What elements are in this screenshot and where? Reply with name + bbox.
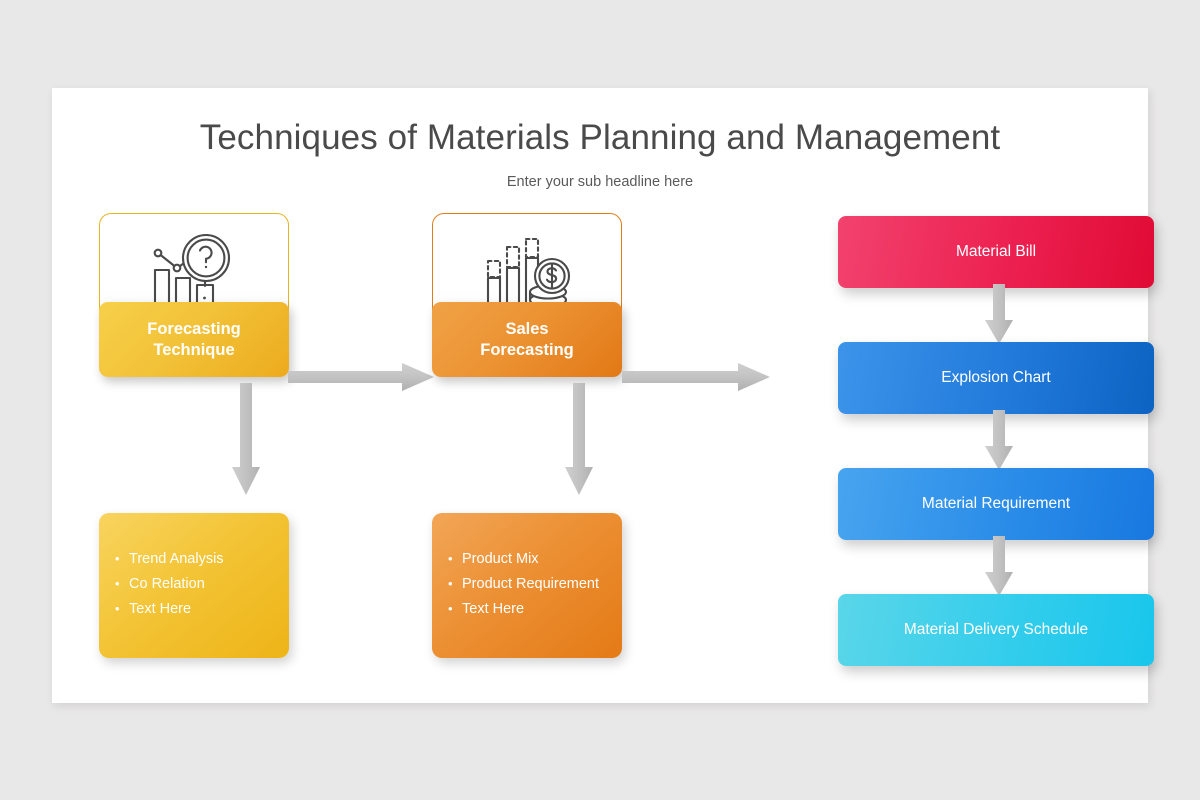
- label-forecasting-technique[interactable]: Forecasting Technique: [99, 302, 289, 377]
- bullet-label: Product Requirement: [462, 576, 599, 592]
- list-item: • Text Here: [448, 601, 622, 617]
- page-subtitle: Enter your sub headline here: [52, 174, 1148, 190]
- bullet-label: Product Mix: [462, 551, 539, 567]
- label-forecasting-line2: Technique: [147, 340, 241, 361]
- page-title: Techniques of Materials Planning and Man…: [52, 118, 1148, 158]
- list-item: • Product Mix: [448, 551, 622, 567]
- bullet-label: Text Here: [129, 601, 191, 617]
- arrow-right-forecasting-to-sales: [288, 360, 436, 394]
- bullet-card-forecasting[interactable]: • Trend Analysis • Co Relation • Text He…: [99, 513, 289, 658]
- label-sales-line1: Sales: [480, 319, 574, 340]
- process-bar-material-delivery-schedule[interactable]: Material Delivery Schedule: [838, 594, 1154, 666]
- arrow-down-explosion-chart: [982, 410, 1016, 472]
- arrow-down-sales: [562, 383, 596, 499]
- list-item: • Product Requirement: [448, 576, 622, 592]
- bullet-icon: •: [115, 602, 129, 615]
- process-bar-label: Material Requirement: [922, 495, 1070, 513]
- bullet-icon: •: [448, 577, 462, 590]
- bullet-label: Trend Analysis: [129, 551, 224, 567]
- process-bar-label: Material Bill: [956, 243, 1036, 261]
- bullet-icon: •: [448, 552, 462, 565]
- slide-canvas: Techniques of Materials Planning and Man…: [52, 88, 1148, 703]
- bullet-label: Text Here: [462, 601, 524, 617]
- process-bar-label: Explosion Chart: [941, 369, 1050, 387]
- label-sales-forecasting[interactable]: Sales Forecasting: [432, 302, 622, 377]
- process-bar-material-bill[interactable]: Material Bill: [838, 216, 1154, 288]
- list-item: • Text Here: [115, 601, 289, 617]
- arrow-right-sales-to-stack: [622, 360, 772, 394]
- arrow-down-material-requirement: [982, 536, 1016, 598]
- label-sales-line2: Forecasting: [480, 340, 574, 361]
- process-bar-material-requirement[interactable]: Material Requirement: [838, 468, 1154, 540]
- bullet-icon: •: [448, 602, 462, 615]
- arrow-down-forecasting: [229, 383, 263, 499]
- arrow-down-material-bill: [982, 284, 1016, 346]
- process-bar-label: Material Delivery Schedule: [904, 621, 1088, 639]
- bullet-label: Co Relation: [129, 576, 205, 592]
- bullet-card-sales[interactable]: • Product Mix • Product Requirement • Te…: [432, 513, 622, 658]
- bullet-icon: •: [115, 577, 129, 590]
- list-item: • Co Relation: [115, 576, 289, 592]
- list-item: • Trend Analysis: [115, 551, 289, 567]
- process-bar-explosion-chart[interactable]: Explosion Chart: [838, 342, 1154, 414]
- bullet-icon: •: [115, 552, 129, 565]
- label-forecasting-line1: Forecasting: [147, 319, 241, 340]
